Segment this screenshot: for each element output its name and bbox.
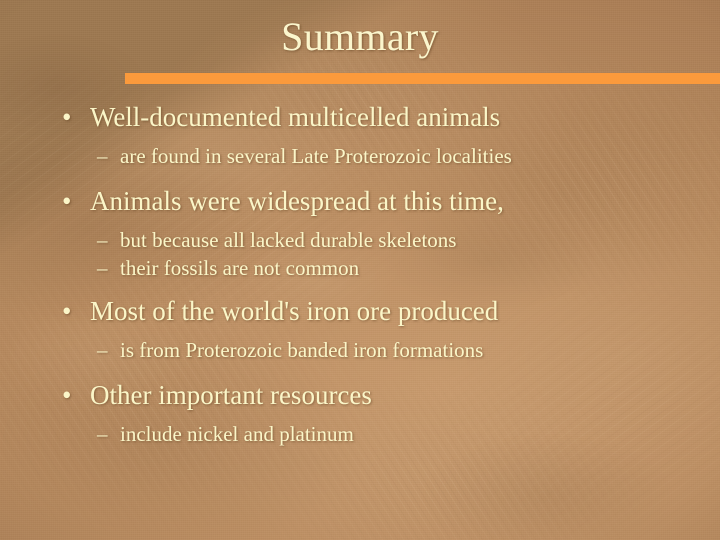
sub-bullet-text: are found in several Late Proterozoic lo…: [120, 144, 512, 168]
sub-bullet-text: but because all lacked durable skeletons: [120, 228, 456, 252]
bullet-group: • Well-documented multicelled animals – …: [0, 100, 720, 170]
presentation-slide: Summary • Well-documented multicelled an…: [0, 0, 720, 540]
bullet-group: • Other important resources – include ni…: [0, 378, 720, 448]
title-divider-rule: [125, 73, 720, 84]
bullet-text: Well-documented multicelled animals: [90, 102, 500, 132]
spacer: [0, 412, 720, 420]
sub-bullet-dash-icon: –: [97, 142, 108, 170]
bullet-item: • Other important resources: [0, 378, 720, 412]
bullet-group: • Animals were widespread at this time, …: [0, 184, 720, 282]
bullet-dot-icon: •: [62, 184, 71, 218]
bullet-dot-icon: •: [62, 294, 71, 328]
bullet-dot-icon: •: [62, 100, 71, 134]
bullet-item: • Well-documented multicelled animals: [0, 100, 720, 134]
slide-body: • Well-documented multicelled animals – …: [0, 100, 720, 448]
sub-bullet-dash-icon: –: [97, 420, 108, 448]
bullet-dot-icon: •: [62, 378, 71, 412]
bullet-group: • Most of the world's iron ore produced …: [0, 294, 720, 364]
sub-bullet-dash-icon: –: [97, 226, 108, 254]
bullet-text: Most of the world's iron ore produced: [90, 296, 498, 326]
spacer: [0, 364, 720, 378]
sub-bullet-dash-icon: –: [97, 254, 108, 282]
spacer: [0, 218, 720, 226]
sub-bullet-text: include nickel and platinum: [120, 422, 354, 446]
sub-bullet-item: – include nickel and platinum: [0, 420, 720, 448]
spacer: [0, 134, 720, 142]
sub-bullet-item: – is from Proterozoic banded iron format…: [0, 336, 720, 364]
bullet-text: Animals were widespread at this time,: [90, 186, 504, 216]
sub-bullet-item: – are found in several Late Proterozoic …: [0, 142, 720, 170]
sub-bullet-text: their fossils are not common: [120, 256, 359, 280]
slide-title: Summary: [0, 17, 720, 57]
bullet-text: Other important resources: [90, 380, 372, 410]
sub-bullet-item: – but because all lacked durable skeleto…: [0, 226, 720, 254]
sub-bullet-item: – their fossils are not common: [0, 254, 720, 282]
spacer: [0, 170, 720, 184]
spacer: [0, 328, 720, 336]
bullet-item: • Animals were widespread at this time,: [0, 184, 720, 218]
bullet-item: • Most of the world's iron ore produced: [0, 294, 720, 328]
sub-bullet-text: is from Proterozoic banded iron formatio…: [120, 338, 483, 362]
sub-bullet-dash-icon: –: [97, 336, 108, 364]
spacer: [0, 282, 720, 294]
